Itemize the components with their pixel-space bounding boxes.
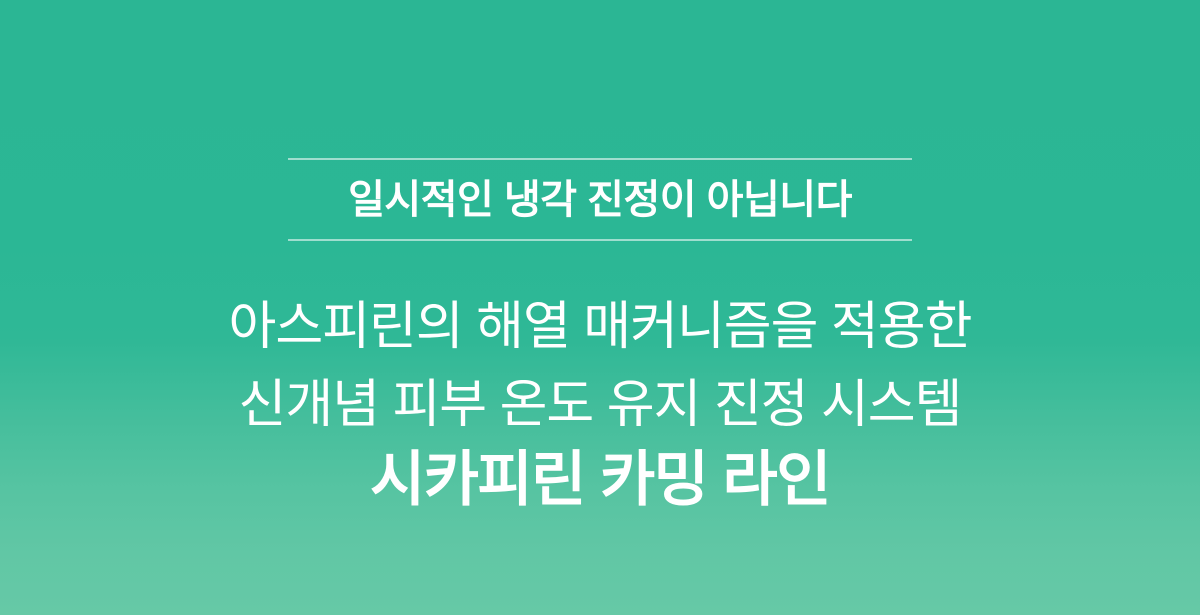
body-line-2: 신개념 피부 온도 유지 진정 시스템 <box>229 366 972 444</box>
divider-bottom <box>288 239 912 241</box>
headline-text: 일시적인 냉각 진정이 아닙니다 <box>348 160 852 239</box>
body-line-1: 아스피린의 해열 매커니즘을 적용한 <box>229 288 972 366</box>
headline-block: 일시적인 냉각 진정이 아닙니다 <box>288 158 912 241</box>
body-copy: 아스피린의 해열 매커니즘을 적용한 신개념 피부 온도 유지 진정 시스템 <box>229 288 972 444</box>
promo-banner: 일시적인 냉각 진정이 아닙니다 아스피린의 해열 매커니즘을 적용한 신개념 … <box>0 0 1200 615</box>
product-line-text: 시카피린 카밍 라인 <box>370 450 830 510</box>
